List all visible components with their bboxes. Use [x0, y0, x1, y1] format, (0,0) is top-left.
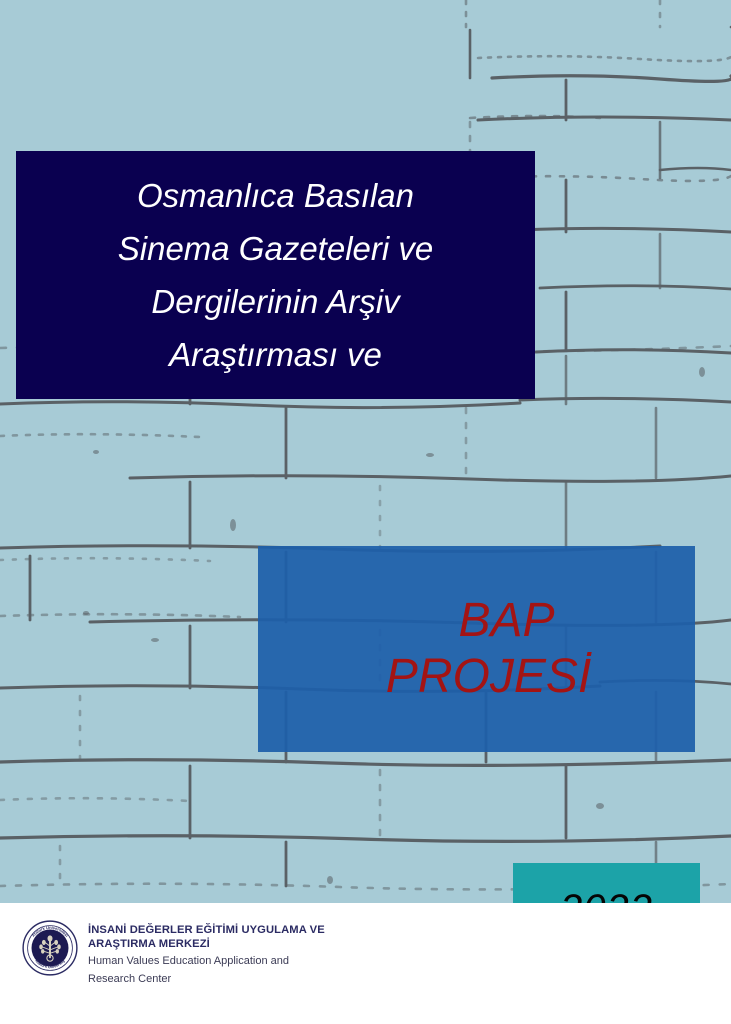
poster-cover: Osmanlıca Basılan Sinema Gazeteleri ve D… [0, 0, 731, 1024]
footer-org-text: İNSANİ DEĞERLER EĞİTİMİ UYGULAMA VE ARAŞ… [88, 920, 325, 986]
project-panel-text: BAP PROJESİ [326, 593, 627, 705]
org-name-tr-line1: İNSANİ DEĞERLER EĞİTİMİ UYGULAMA VE [88, 924, 325, 938]
title-line-2: Sinema Gazeteleri ve [118, 222, 433, 275]
project-label-bap: BAP [386, 593, 627, 649]
title-line-1: Osmanlıca Basılan [137, 169, 414, 222]
footer: Atatürk Üniversitesi Atatürk University … [0, 903, 731, 1024]
title-line-4: Araştırması ve [169, 328, 382, 381]
project-panel: BAP PROJESİ [258, 546, 695, 752]
project-label-projesi: PROJESİ [386, 649, 627, 705]
org-name-en-line1: Human Values Education Application and [88, 955, 325, 969]
org-name-tr-line2: ARAŞTIRMA MERKEZİ [88, 938, 325, 952]
title-line-3: Dergilerinin Arşiv [151, 275, 399, 328]
org-name-en-line2: Research Center [88, 973, 325, 987]
university-seal-icon: Atatürk Üniversitesi Atatürk University [22, 920, 78, 976]
title-panel: Osmanlıca Basılan Sinema Gazeteleri ve D… [16, 151, 535, 399]
brick-wall-background [0, 0, 731, 903]
footer-content: Atatürk Üniversitesi Atatürk University … [0, 903, 325, 986]
